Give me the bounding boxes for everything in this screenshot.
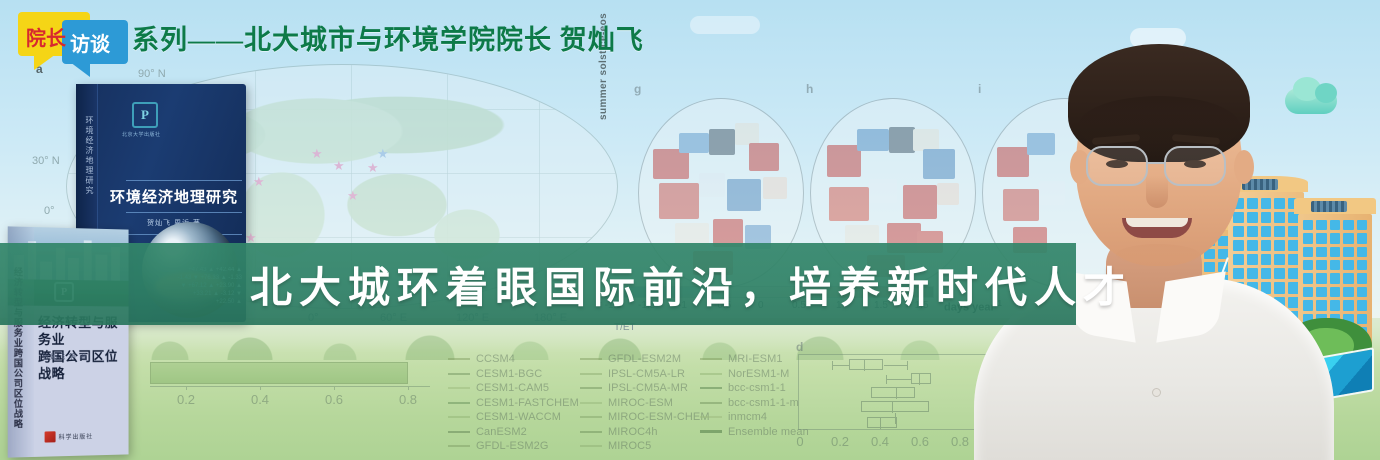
legend-swatch (700, 430, 722, 433)
logo-text-primary: 院长 (26, 22, 66, 51)
legend-item: CCSM4 (448, 352, 579, 367)
legend-item: MIROC5 (580, 439, 710, 454)
headline-text: 北大城环着眼国际前沿，培养新时代人才 (250, 252, 1060, 316)
legend-item: MIROC4h (580, 425, 710, 440)
legend-swatch (580, 358, 602, 360)
eyeglasses-bridge (1148, 162, 1166, 164)
legend-label: CanESM2 (476, 426, 527, 438)
model-legend-column-1: CCSM4 CESM1-BGC CESM1-CAM5 CESM1-FASTCHE… (448, 352, 579, 454)
legend-label: MIROC4h (608, 426, 658, 438)
legend-swatch (700, 416, 722, 418)
bar-tick-0_8: 0.8 (399, 392, 417, 407)
legend-swatch (700, 358, 722, 360)
legend-swatch (700, 387, 722, 389)
shirt-button (1152, 388, 1161, 397)
teeth (1126, 218, 1188, 227)
legend-swatch (448, 373, 470, 375)
legend-swatch (580, 416, 602, 418)
book-author: 贺灿飞 等 著 (42, 352, 88, 362)
eyeglasses-lens-left (1086, 146, 1148, 186)
legend-item: MIROC-ESM (580, 396, 710, 411)
legend-swatch (448, 416, 470, 418)
legend-label: IPSL-CM5A-LR (608, 368, 685, 380)
legend-swatch (580, 387, 602, 389)
lat-label-0: 0° (44, 205, 55, 217)
legend-item: IPSL-CM5A-LR (580, 367, 710, 382)
legend-swatch (700, 373, 722, 375)
panel-letter-d: d (796, 340, 803, 354)
legend-item: CESM1-BGC (448, 367, 579, 382)
map-marker-star: ★ (333, 159, 345, 172)
legend-label: MIROC-ESM-CHEM (608, 411, 710, 423)
interview-banner: ★ ★ ★ ★ ★ ★ ★ ★ ★ a 90° N 30° N 0° 60° W… (0, 0, 1380, 460)
book-spine-title: 环境经济地理研究 (84, 116, 95, 196)
lat-label-30n: 30° N (32, 155, 60, 167)
legend-swatch (448, 445, 470, 447)
legend-item: GFDL-ESM2G (448, 439, 579, 454)
legend-item: CESM1-FASTCHEM (448, 396, 579, 411)
legend-label: inmcm4 (728, 411, 767, 423)
panel-letter-g: g (634, 82, 641, 96)
legend-swatch (580, 431, 602, 433)
bar-tick-0_6: 0.6 (325, 392, 343, 407)
legend-label: CESM1-CAM5 (476, 382, 549, 394)
bar-chart-panel: 0.2 0.4 0.6 0.8 (150, 360, 450, 420)
legend-swatch (580, 373, 602, 375)
banner-header: 院长 访谈 系列——北大城市与环境学院院长 贺灿飞 (0, 0, 1380, 72)
chart-bar (150, 362, 408, 384)
legend-swatch (448, 387, 470, 389)
map-marker-star: ★ (347, 189, 359, 202)
legend-label: CCSM4 (476, 353, 515, 365)
legend-swatch (580, 445, 602, 447)
box-tick-0_6: 0.6 (911, 434, 929, 449)
book-publisher: 科学出版社 (45, 430, 94, 442)
box-tick-0_4: 0.4 (871, 434, 889, 449)
book-title: 环境经济地理研究 (106, 186, 242, 207)
bar-tick-0_2: 0.2 (177, 392, 195, 407)
legend-label: GFDL-ESM2G (476, 440, 549, 452)
map-marker-star: ★ (367, 161, 379, 174)
legend-item: MIROC-ESM-CHEM (580, 410, 710, 425)
legend-label: MRI-ESM1 (728, 353, 783, 365)
legend-swatch (448, 358, 470, 360)
legend-label: MIROC5 (608, 440, 651, 452)
legend-swatch (448, 431, 470, 433)
legend-item: GFDL-ESM2M (580, 352, 710, 367)
eyeglasses-lens-right (1164, 146, 1226, 186)
chart-axis (150, 386, 430, 387)
legend-item: CESM1-CAM5 (448, 381, 579, 396)
legend-label: CESM1-WACCM (476, 411, 561, 423)
legend-label: CESM1-BGC (476, 368, 542, 380)
logo-text-secondary: 访谈 (70, 28, 110, 57)
map-marker-star: ★ (311, 147, 323, 160)
mouth (1122, 218, 1192, 238)
program-logo: 院长 访谈 (18, 8, 130, 68)
legend-label: MIROC-ESM (608, 397, 673, 409)
model-legend-column-2: GFDL-ESM2M IPSL-CM5A-LR IPSL-CM5A-MR MIR… (580, 352, 710, 454)
publisher-logo-subtitle: 北京大学出版社 (122, 131, 161, 138)
publisher-name: 科学出版社 (59, 431, 94, 441)
publisher-logo-icon: P (132, 102, 158, 128)
legend-label: GFDL-ESM2M (608, 353, 681, 365)
map-marker-star: ★ (253, 175, 265, 188)
ear-right (1234, 150, 1254, 184)
legend-item: CanESM2 (448, 425, 579, 440)
map-marker-star: ★ (377, 147, 389, 160)
legend-swatch (448, 402, 470, 404)
legend-label: CESM1-FASTCHEM (476, 397, 579, 409)
legend-item: IPSL-CM5A-MR (580, 381, 710, 396)
publisher-mark-icon (45, 431, 56, 442)
legend-label: IPSL-CM5A-MR (608, 382, 688, 394)
bar-tick-0_4: 0.4 (251, 392, 269, 407)
legend-label: NorESM1-M (728, 368, 789, 380)
legend-label: bcc-csm1-1 (728, 382, 786, 394)
panel-letter-h: h (806, 82, 813, 96)
legend-item: CESM1-WACCM (448, 410, 579, 425)
box-tick-0_2: 0.2 (831, 434, 849, 449)
legend-swatch (580, 402, 602, 404)
box-tick-0: 0 (796, 434, 803, 449)
nose (1146, 176, 1168, 208)
legend-swatch (700, 402, 722, 404)
page-title: 系列——北大城市与环境学院院长 贺灿飞 (132, 18, 644, 57)
